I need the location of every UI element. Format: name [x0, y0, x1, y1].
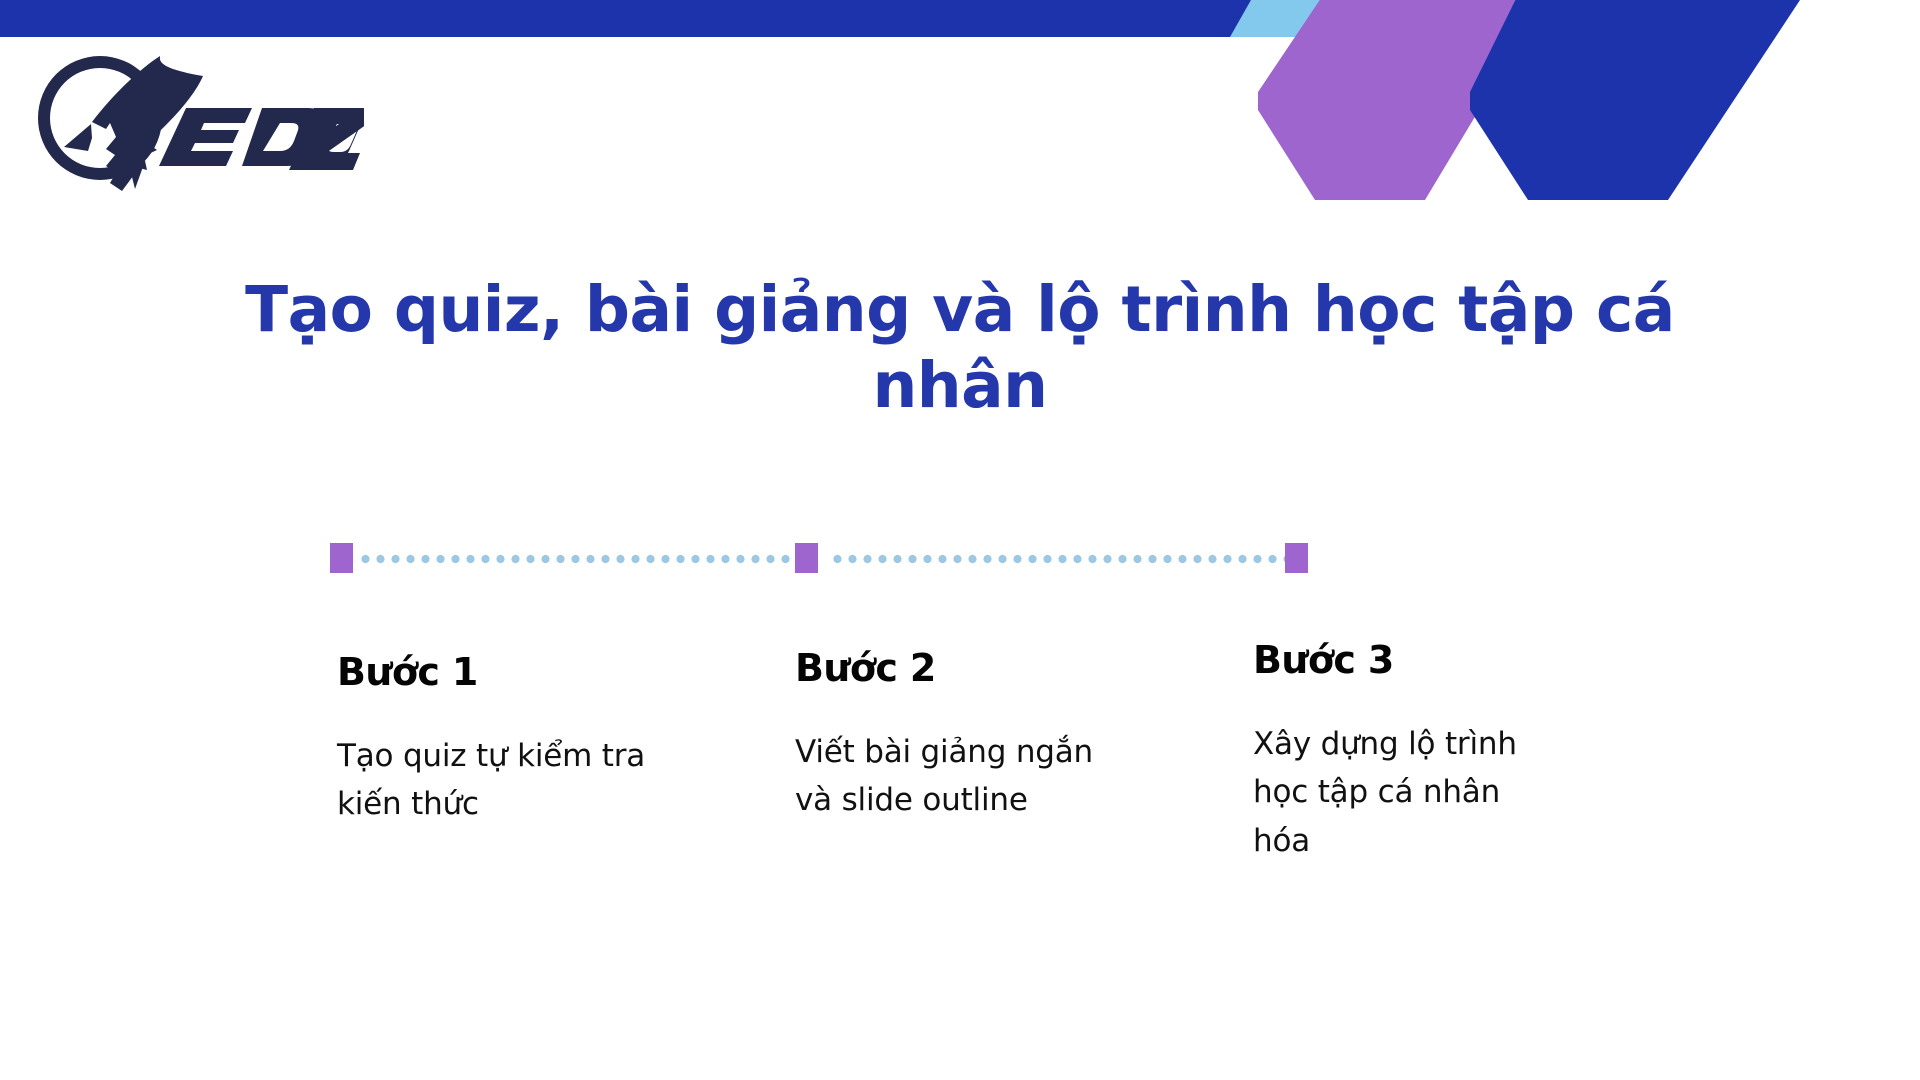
hexagon-light-blue	[1230, 0, 1460, 37]
hexagon-dark-blue	[1470, 0, 1800, 200]
step-item-2: Bước 2 Viết bài giảng ngắn và slide outl…	[795, 648, 1135, 825]
timeline-marker-3[interactable]	[1285, 543, 1308, 573]
step-description-1: Tạo quiz tự kiểm tra kiến thức	[337, 732, 647, 829]
slide-canvas: Tạo quiz, bài giảng và lộ trình học tập …	[0, 0, 1920, 1080]
timeline-dotted-segment-1	[358, 555, 808, 563]
page-title: Tạo quiz, bài giảng và lộ trình học tập …	[240, 272, 1680, 424]
step-label-2: Bước 2	[795, 648, 1135, 690]
step-item-1: Bước 1 Tạo quiz tự kiểm tra kiến thức	[337, 652, 677, 829]
timeline-track	[330, 543, 1330, 575]
timeline-marker-2[interactable]	[795, 543, 818, 573]
timeline-marker-1[interactable]	[330, 543, 353, 573]
top-band-shape	[0, 0, 1313, 37]
hexagon-purple	[1258, 0, 1545, 200]
eduz-wordmark	[159, 108, 364, 170]
timeline-dotted-segment-2	[830, 555, 1300, 563]
step-description-2: Viết bài giảng ngắn và slide outline	[795, 728, 1105, 825]
eduz-logo	[34, 52, 364, 192]
step-description-3: Xây dựng lộ trình học tập cá nhân hóa	[1253, 720, 1563, 866]
rocket-in-circle-icon	[38, 56, 203, 191]
step-label-3: Bước 3	[1253, 640, 1593, 682]
timeline	[330, 543, 1330, 575]
step-label-1: Bước 1	[337, 652, 677, 694]
step-item-3: Bước 3 Xây dựng lộ trình học tập cá nhân…	[1253, 640, 1593, 866]
steps-group: Bước 1 Tạo quiz tự kiểm tra kiến thức Bư…	[0, 640, 1920, 970]
